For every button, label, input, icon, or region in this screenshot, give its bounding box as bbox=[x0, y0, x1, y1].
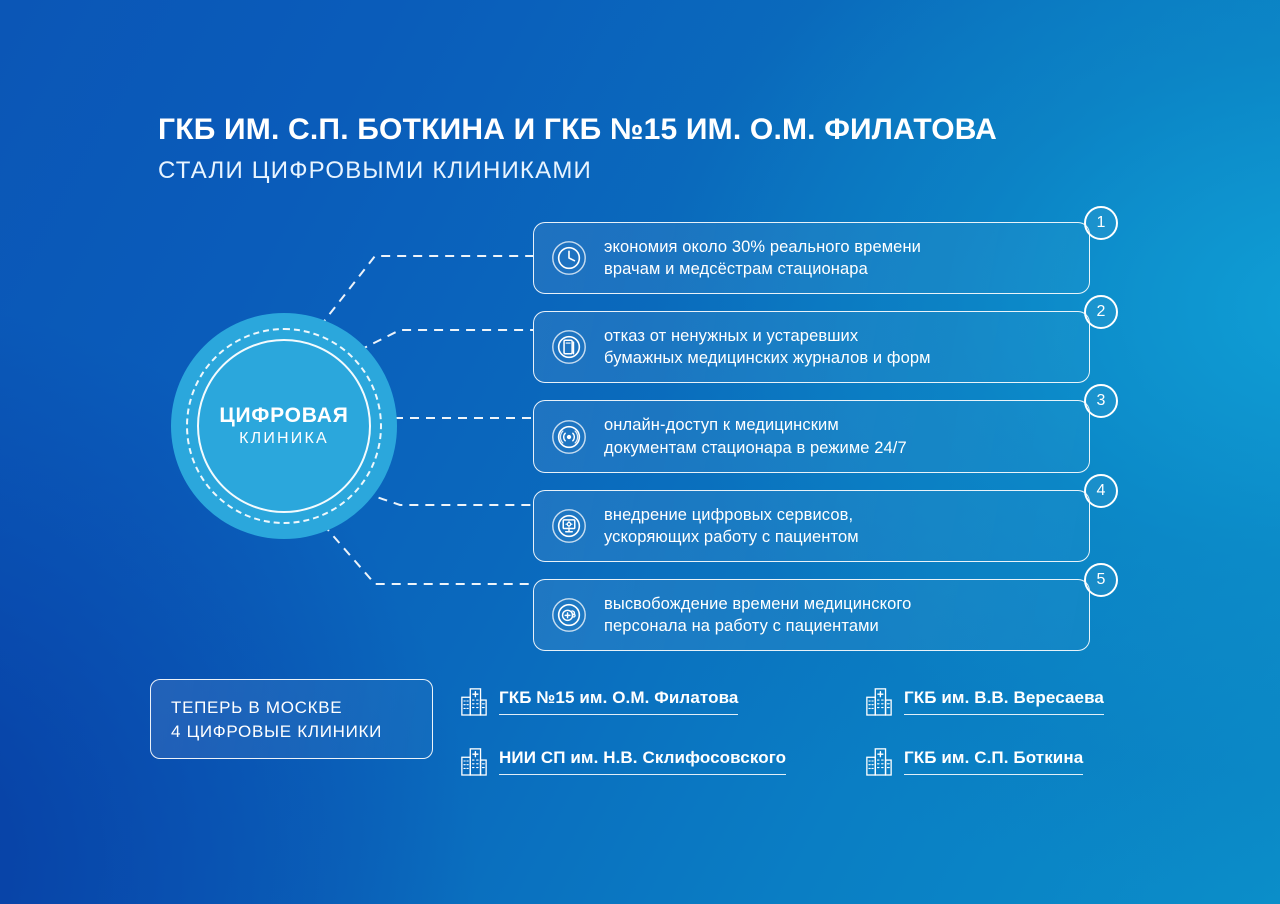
benefit-text: внедрение цифровых сервисов, ускоряющих … bbox=[604, 504, 859, 548]
benefit-card[interactable]: внедрение цифровых сервисов, ускоряющих … bbox=[533, 490, 1090, 562]
hub-label-line-2: КЛИНИКА bbox=[239, 431, 329, 447]
benefit-card[interactable]: высвобождение времени медицинского персо… bbox=[533, 579, 1090, 651]
benefit-text-line-1: онлайн-доступ к медицинским bbox=[604, 414, 907, 436]
hospital-item[interactable]: ГКБ №15 им. О.М. Филатова bbox=[460, 686, 865, 716]
benefit-text-line-1: экономия около 30% реального времени bbox=[604, 236, 921, 258]
hospital-item[interactable]: ГКБ им. В.В. Вересаева bbox=[865, 686, 1104, 716]
benefit-card[interactable]: экономия около 30% реального времени вра… bbox=[533, 222, 1090, 294]
medical-cross-stethoscope-icon bbox=[551, 597, 587, 633]
benefit-text: высвобождение времени медицинского персо… bbox=[604, 593, 911, 637]
callout-line-1: ТЕПЕРЬ В МОСКВЕ bbox=[171, 699, 432, 716]
benefit-number-badge: 1 bbox=[1084, 206, 1118, 240]
benefit-text-line-1: внедрение цифровых сервисов, bbox=[604, 504, 859, 526]
monitor-settings-icon bbox=[551, 508, 587, 544]
hospital-building-icon bbox=[865, 746, 893, 776]
benefit-text: отказ от ненужных и устаревших бумажных … bbox=[604, 325, 931, 369]
clock-icon bbox=[551, 240, 587, 276]
documents-icon bbox=[551, 329, 587, 365]
benefit-number-badge: 5 bbox=[1084, 563, 1118, 597]
page-subtitle: СТАЛИ ЦИФРОВЫМИ КЛИНИКАМИ bbox=[158, 157, 1158, 186]
benefit-text: экономия около 30% реального времени вра… bbox=[604, 236, 921, 280]
hospital-item[interactable]: НИИ СП им. Н.В. Склифосовского bbox=[460, 746, 865, 776]
benefit-text-line-2: документам стационара в режиме 24/7 bbox=[604, 437, 907, 459]
benefit-card[interactable]: отказ от ненужных и устаревших бумажных … bbox=[533, 311, 1090, 383]
moscow-clinics-callout: ТЕПЕРЬ В МОСКВЕ 4 ЦИФРОВЫЕ КЛИНИКИ bbox=[150, 679, 433, 759]
hospital-name: ГКБ им. В.В. Вересаева bbox=[904, 688, 1104, 715]
hospital-building-icon bbox=[460, 686, 488, 716]
benefit-text-line-1: высвобождение времени медицинского bbox=[604, 593, 911, 615]
benefit-text-line-2: персонала на работу с пациентами bbox=[604, 615, 911, 637]
hospital-name: ГКБ №15 им. О.М. Филатова bbox=[499, 688, 738, 715]
hospital-building-icon bbox=[460, 746, 488, 776]
central-hub: ЦИФРОВАЯ КЛИНИКА bbox=[171, 313, 397, 539]
benefit-card[interactable]: онлайн-доступ к медицинским документам с… bbox=[533, 400, 1090, 472]
hospital-item[interactable]: ГКБ им. С.П. Боткина bbox=[865, 746, 1083, 776]
infographic-poster: ГКБ ИМ. С.П. БОТКИНА И ГКБ №15 ИМ. О.М. … bbox=[0, 0, 1280, 904]
benefit-number-badge: 2 bbox=[1084, 295, 1118, 329]
benefit-text-line-2: ускоряющих работу с пациентом bbox=[604, 526, 859, 548]
callout-line-2: 4 ЦИФРОВЫЕ КЛИНИКИ bbox=[171, 723, 432, 740]
benefit-text-line-2: бумажных медицинских журналов и форм bbox=[604, 347, 931, 369]
page-title: ГКБ ИМ. С.П. БОТКИНА И ГКБ №15 ИМ. О.М. … bbox=[158, 112, 1158, 147]
hospital-building-icon bbox=[865, 686, 893, 716]
hospital-list: ГКБ №15 им. О.М. Филатова ГКБ им. В.В. В… bbox=[460, 676, 1160, 786]
hub-label: ЦИФРОВАЯ КЛИНИКА bbox=[171, 313, 397, 539]
benefit-number-badge: 4 bbox=[1084, 474, 1118, 508]
benefit-text: онлайн-доступ к медицинским документам с… bbox=[604, 414, 907, 458]
benefit-text-line-2: врачам и медсёстрам стационара bbox=[604, 258, 921, 280]
benefit-card-list: экономия около 30% реального времени вра… bbox=[533, 222, 1133, 668]
hospital-name: НИИ СП им. Н.В. Склифосовского bbox=[499, 748, 786, 775]
hospital-name: ГКБ им. С.П. Боткина bbox=[904, 748, 1083, 775]
wireless-signal-icon bbox=[551, 419, 587, 455]
header-block: ГКБ ИМ. С.П. БОТКИНА И ГКБ №15 ИМ. О.М. … bbox=[158, 112, 1158, 186]
benefit-number-badge: 3 bbox=[1084, 384, 1118, 418]
hub-label-line-1: ЦИФРОВАЯ bbox=[219, 405, 348, 426]
benefit-text-line-1: отказ от ненужных и устаревших bbox=[604, 325, 931, 347]
